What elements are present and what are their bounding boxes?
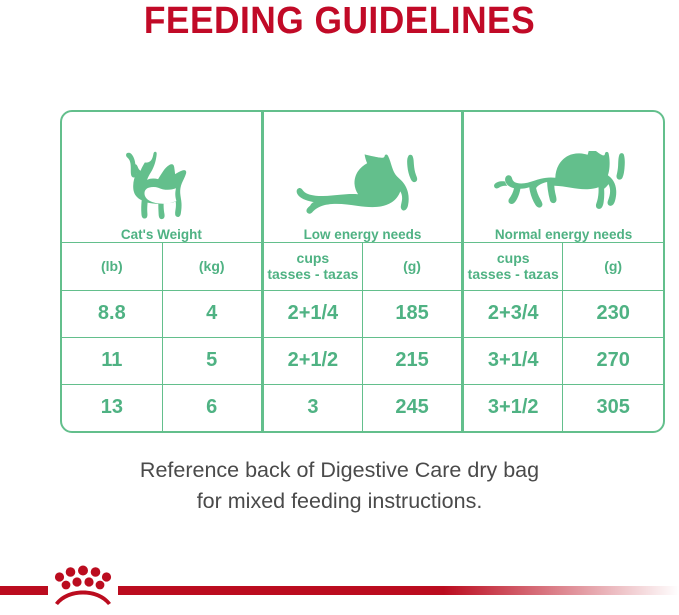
cell-weight-lb: 8.8 [62, 290, 162, 337]
table-units-row: (lb) (kg) cups tasses - tazas (g [62, 242, 663, 290]
footer-note-line1: Reference back of Digestive Care dry bag [140, 458, 539, 482]
cell-normal-grams: 305 [563, 384, 663, 431]
cell-low-grams: 245 [362, 384, 462, 431]
units-line1: cups [264, 250, 362, 266]
header-label-normal-energy: Normal energy needs [495, 227, 632, 242]
units-line1: (g) [363, 258, 461, 274]
brand-bar [0, 555, 679, 605]
table-row: 11 5 2+1/2 215 3+1/4 270 [62, 337, 663, 384]
brand-bar-right-segment [118, 586, 679, 595]
units-cell-normal-cups: cups tasses - tazas [463, 242, 563, 290]
walking-cat-icon [494, 151, 634, 223]
footer-note: Reference back of Digestive Care dry bag… [0, 455, 679, 517]
units-cell-low-cups: cups tasses - tazas [262, 242, 362, 290]
cell-weight-lb: 11 [62, 337, 162, 384]
lying-cat-icon [292, 151, 432, 223]
header-group-normal-energy: Normal energy needs [463, 112, 663, 242]
cell-weight-kg: 6 [162, 384, 262, 431]
cell-weight-kg: 4 [162, 290, 262, 337]
units-cell-normal-grams: (g) [563, 242, 663, 290]
feeding-guidelines-table: Cat's Weight Low energy needs [60, 110, 665, 433]
royal-canin-crown-logo [48, 563, 118, 605]
table-header-icon-row: Cat's Weight Low energy needs [62, 112, 663, 242]
table-row: 8.8 4 2+1/4 185 2+3/4 230 [62, 290, 663, 337]
header-label-cats-weight: Cat's Weight [121, 227, 202, 242]
units-line1: cups [464, 250, 562, 266]
units-line1: (kg) [163, 258, 261, 274]
cell-normal-cups: 3+1/2 [463, 384, 563, 431]
units-cell-lb: (lb) [62, 242, 162, 290]
cell-normal-grams: 230 [563, 290, 663, 337]
units-line1: (g) [563, 258, 663, 274]
header-group-low-energy: Low energy needs [262, 112, 462, 242]
header-label-low-energy: Low energy needs [304, 227, 422, 242]
cell-normal-cups: 3+1/4 [463, 337, 563, 384]
cell-low-cups: 2+1/4 [262, 290, 362, 337]
cell-low-grams: 185 [362, 290, 462, 337]
cell-low-grams: 215 [362, 337, 462, 384]
page-title: FEEDING GUIDELINES [24, 0, 655, 42]
footer-note-line2: for mixed feeding instructions. [0, 486, 679, 517]
cell-normal-grams: 270 [563, 337, 663, 384]
standing-cat-icon [125, 147, 197, 223]
cell-low-cups: 2+1/2 [262, 337, 362, 384]
units-line2: tasses - tazas [464, 266, 562, 282]
feeding-guidelines-panel: FEEDING GUIDELINES Cat's Weight [0, 0, 679, 615]
header-group-cats-weight: Cat's Weight [62, 112, 262, 242]
units-line2: tasses - tazas [264, 266, 362, 282]
cell-weight-lb: 13 [62, 384, 162, 431]
table-row: 13 6 3 245 3+1/2 305 [62, 384, 663, 431]
units-line1: (lb) [62, 258, 162, 274]
units-cell-low-grams: (g) [362, 242, 462, 290]
units-cell-kg: (kg) [162, 242, 262, 290]
brand-bar-left-segment [0, 586, 48, 595]
cell-normal-cups: 2+3/4 [463, 290, 563, 337]
cell-low-cups: 3 [262, 384, 362, 431]
cell-weight-kg: 5 [162, 337, 262, 384]
